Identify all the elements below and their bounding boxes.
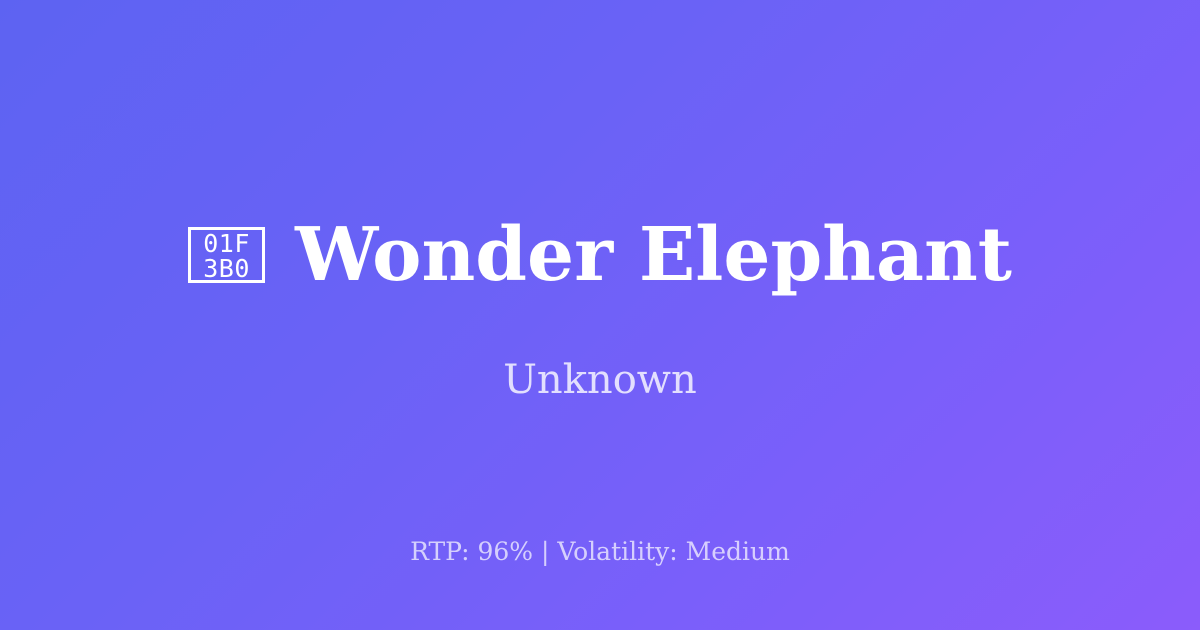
slot-machine-emoji-tofu-icon: 01F 3B0 xyxy=(188,227,265,283)
game-stats-footer: RTP: 96% | Volatility: Medium xyxy=(0,539,1200,564)
game-provider-subtitle: Unknown xyxy=(503,292,697,400)
game-og-card: 01F 3B0 Wonder Elephant Unknown RTP: 96%… xyxy=(0,0,1200,630)
tofu-hex-top: 01F xyxy=(203,231,250,256)
page-title: Wonder Elephant xyxy=(295,218,1012,292)
title-row: 01F 3B0 Wonder Elephant xyxy=(188,218,1012,292)
hero-block: 01F 3B0 Wonder Elephant Unknown xyxy=(0,218,1200,400)
tofu-hex-bottom: 3B0 xyxy=(203,256,250,281)
